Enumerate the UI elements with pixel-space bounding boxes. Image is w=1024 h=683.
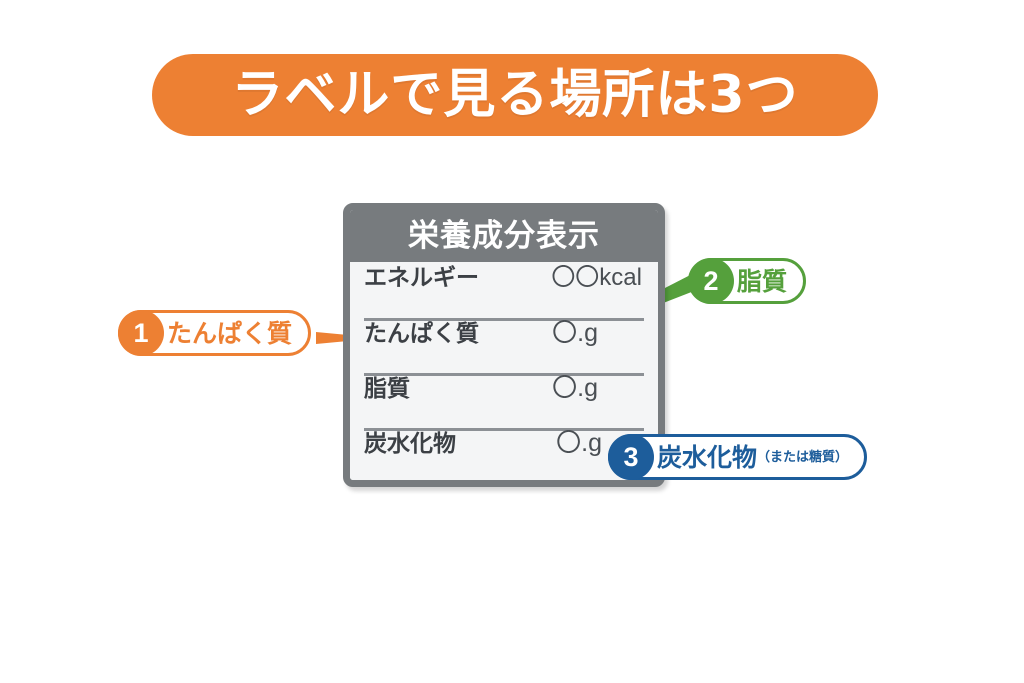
- callout-carbohydrate: 3 炭水化物 （または糖質）: [608, 434, 867, 480]
- nutrition-label-title: 栄養成分表示: [408, 221, 600, 252]
- callout-number-badge: 3: [608, 434, 654, 480]
- page-title: ラベルで見る場所は3つ: [231, 69, 798, 121]
- callout-label: たんぱく質: [167, 321, 292, 346]
- nutrient-name: 炭水化物: [364, 433, 456, 456]
- callout-number-badge: 1: [118, 310, 164, 356]
- nutrient-name: エネルギー: [364, 267, 479, 290]
- callout-sublabel: （または糖質）: [757, 451, 848, 464]
- callout-pill: 3 炭水化物 （または糖質）: [608, 434, 867, 480]
- title-banner: ラベルで見る場所は3つ: [152, 54, 878, 136]
- table-row: 脂質 〇.g: [364, 376, 644, 431]
- nutrient-value: 〇.g: [552, 321, 644, 346]
- nutrient-name: たんぱく質: [364, 323, 479, 346]
- nutrient-value: 〇.g: [552, 376, 644, 401]
- table-row: たんぱく質 〇.g: [364, 321, 644, 376]
- callout-fat: 2 脂質: [688, 258, 806, 304]
- callout-protein: 1 たんぱく質: [118, 310, 311, 356]
- callout-number-badge: 2: [688, 258, 734, 304]
- callout-pill: 2 脂質: [688, 258, 806, 304]
- nutrition-label-header: 栄養成分表示: [350, 210, 658, 262]
- callout-label: 炭水化物: [657, 445, 757, 470]
- nutrient-name: 脂質: [364, 378, 410, 401]
- callout-pill: 1 たんぱく質: [118, 310, 311, 356]
- callout-label: 脂質: [737, 269, 787, 294]
- slide-canvas: ラベルで見る場所は3つ 栄養成分表示 エネルギー 〇〇kcal たんぱく質 〇.…: [0, 0, 1024, 683]
- table-row: エネルギー 〇〇kcal: [364, 266, 644, 321]
- table-row: 炭水化物 〇.g: [364, 431, 644, 486]
- nutrient-value: 〇〇kcal: [551, 266, 644, 290]
